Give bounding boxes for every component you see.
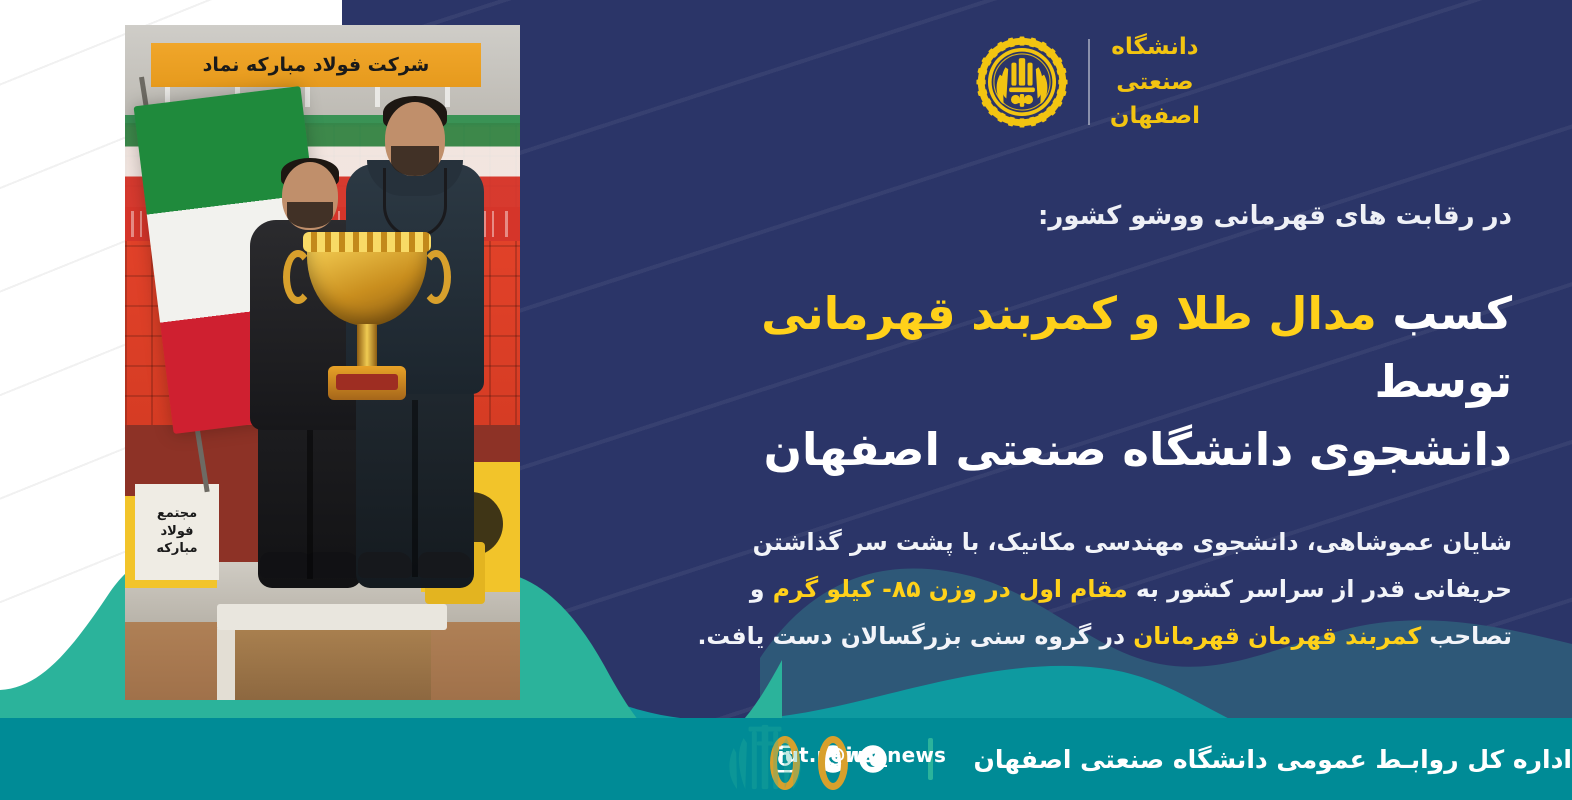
plaque-line-1: مجتمع bbox=[157, 507, 197, 522]
instagram-handle[interactable]: iut.news bbox=[770, 736, 800, 790]
plaque-line-2: فولاد bbox=[161, 525, 194, 540]
footer-bar: iut.news @iut_news اداره کل روابـط عمومی… bbox=[0, 718, 1572, 800]
logo-wordmark-line-2: صنعتی bbox=[1110, 65, 1200, 100]
body-highlight-2: کمربند قهرمان قهرمانان bbox=[1133, 622, 1421, 650]
athletes-photo: شرکت فولاد مبارکه نماد مجتمع فولاد مبارک… bbox=[125, 25, 520, 700]
logo-wordmark-line-1: دانشگاه bbox=[1110, 30, 1200, 65]
iut-gear-emblem-icon bbox=[976, 36, 1068, 128]
footer-office-title: اداره کل روابـط عمومی دانشگاه صنعتی اصفه… bbox=[973, 745, 1572, 774]
university-logo-block: دانشگاه صنعتی اصفهان bbox=[976, 30, 1200, 134]
sponsor-banner-text: شرکت فولاد مبارکه نماد bbox=[203, 54, 430, 76]
headline-part-1: کسب bbox=[1377, 287, 1512, 340]
logo-divider bbox=[1088, 39, 1090, 125]
logo-wordmark: دانشگاه صنعتی اصفهان bbox=[1110, 30, 1200, 134]
article-text-block: در رقابت های قهرمانی ووشو کشور: کسب مدال… bbox=[692, 196, 1512, 660]
body-paragraph: شایان عموشاهی، دانشجوی مهندسی مکانیک، با… bbox=[692, 519, 1512, 660]
messenger-social-group[interactable]: @iut_news bbox=[818, 744, 888, 774]
body-segment-5: در گروه سنی بزرگسالان دست یافت. bbox=[697, 622, 1133, 650]
news-banner: شرکت فولاد مبارکه نماد مجتمع فولاد مبارک… bbox=[0, 0, 1572, 800]
headline-highlight: مدال طلا و کمربند قهرمانی bbox=[761, 287, 1376, 340]
instagram-social[interactable]: iut.news bbox=[770, 744, 800, 774]
body-highlight-1: مقام اول در وزن ۸۵- کیلو گرم bbox=[773, 575, 1128, 603]
kicker-line: در رقابت های قهرمانی ووشو کشور: bbox=[692, 196, 1512, 238]
logo-wordmark-line-3: اصفهان bbox=[1110, 99, 1200, 134]
sponsor-top-banner: شرکت فولاد مبارکه نماد bbox=[151, 43, 481, 87]
winners-podium bbox=[217, 604, 447, 700]
plaque-line-3: مبارکه bbox=[156, 542, 197, 557]
headline-part-2: توسط bbox=[1374, 355, 1512, 408]
championship-trophy bbox=[307, 232, 427, 432]
headline-line-2: دانشجوی دانشگاه صنعتی اصفهان bbox=[764, 423, 1512, 476]
telegram-bale-handle[interactable]: @iut_news bbox=[818, 736, 848, 790]
steel-plaque: مجتمع فولاد مبارکه bbox=[135, 484, 219, 580]
headline: کسب مدال طلا و کمربند قهرمانی توسط دانشج… bbox=[692, 280, 1512, 485]
